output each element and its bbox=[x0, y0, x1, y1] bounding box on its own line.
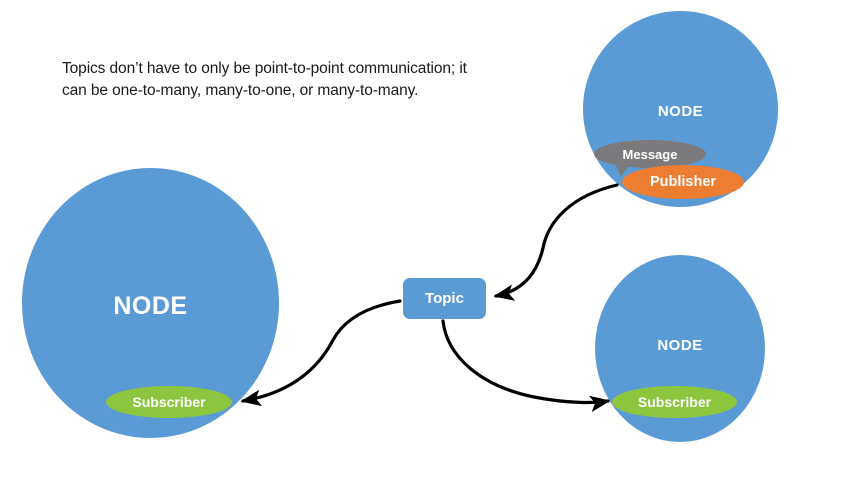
subscriber-ellipse-left[interactable]: Subscriber bbox=[106, 386, 232, 418]
publisher-label: Publisher bbox=[650, 174, 716, 190]
caption-text: Topics don’t have to only be point-to-po… bbox=[62, 58, 482, 103]
publisher-ellipse[interactable]: Publisher bbox=[622, 165, 744, 199]
topic-label: Topic bbox=[425, 290, 464, 307]
node-top-right-label: NODE bbox=[583, 103, 778, 120]
topic-box[interactable]: Topic bbox=[403, 278, 486, 319]
node-left-label: NODE bbox=[22, 292, 279, 321]
node-bottom-right-label: NODE bbox=[595, 337, 765, 354]
subscriber-left-label: Subscriber bbox=[132, 394, 205, 410]
connector-publisher-to-topic bbox=[496, 185, 617, 296]
message-ellipse[interactable]: Message bbox=[594, 140, 706, 168]
slide-canvas: Topics don’t have to only be point-to-po… bbox=[0, 0, 854, 480]
connector-topic-to-bottom-right-subscriber bbox=[443, 321, 608, 402]
subscriber-ellipse-bottom-right[interactable]: Subscriber bbox=[612, 386, 737, 418]
subscriber-bottom-right-label: Subscriber bbox=[638, 394, 711, 410]
message-label: Message bbox=[623, 147, 678, 162]
